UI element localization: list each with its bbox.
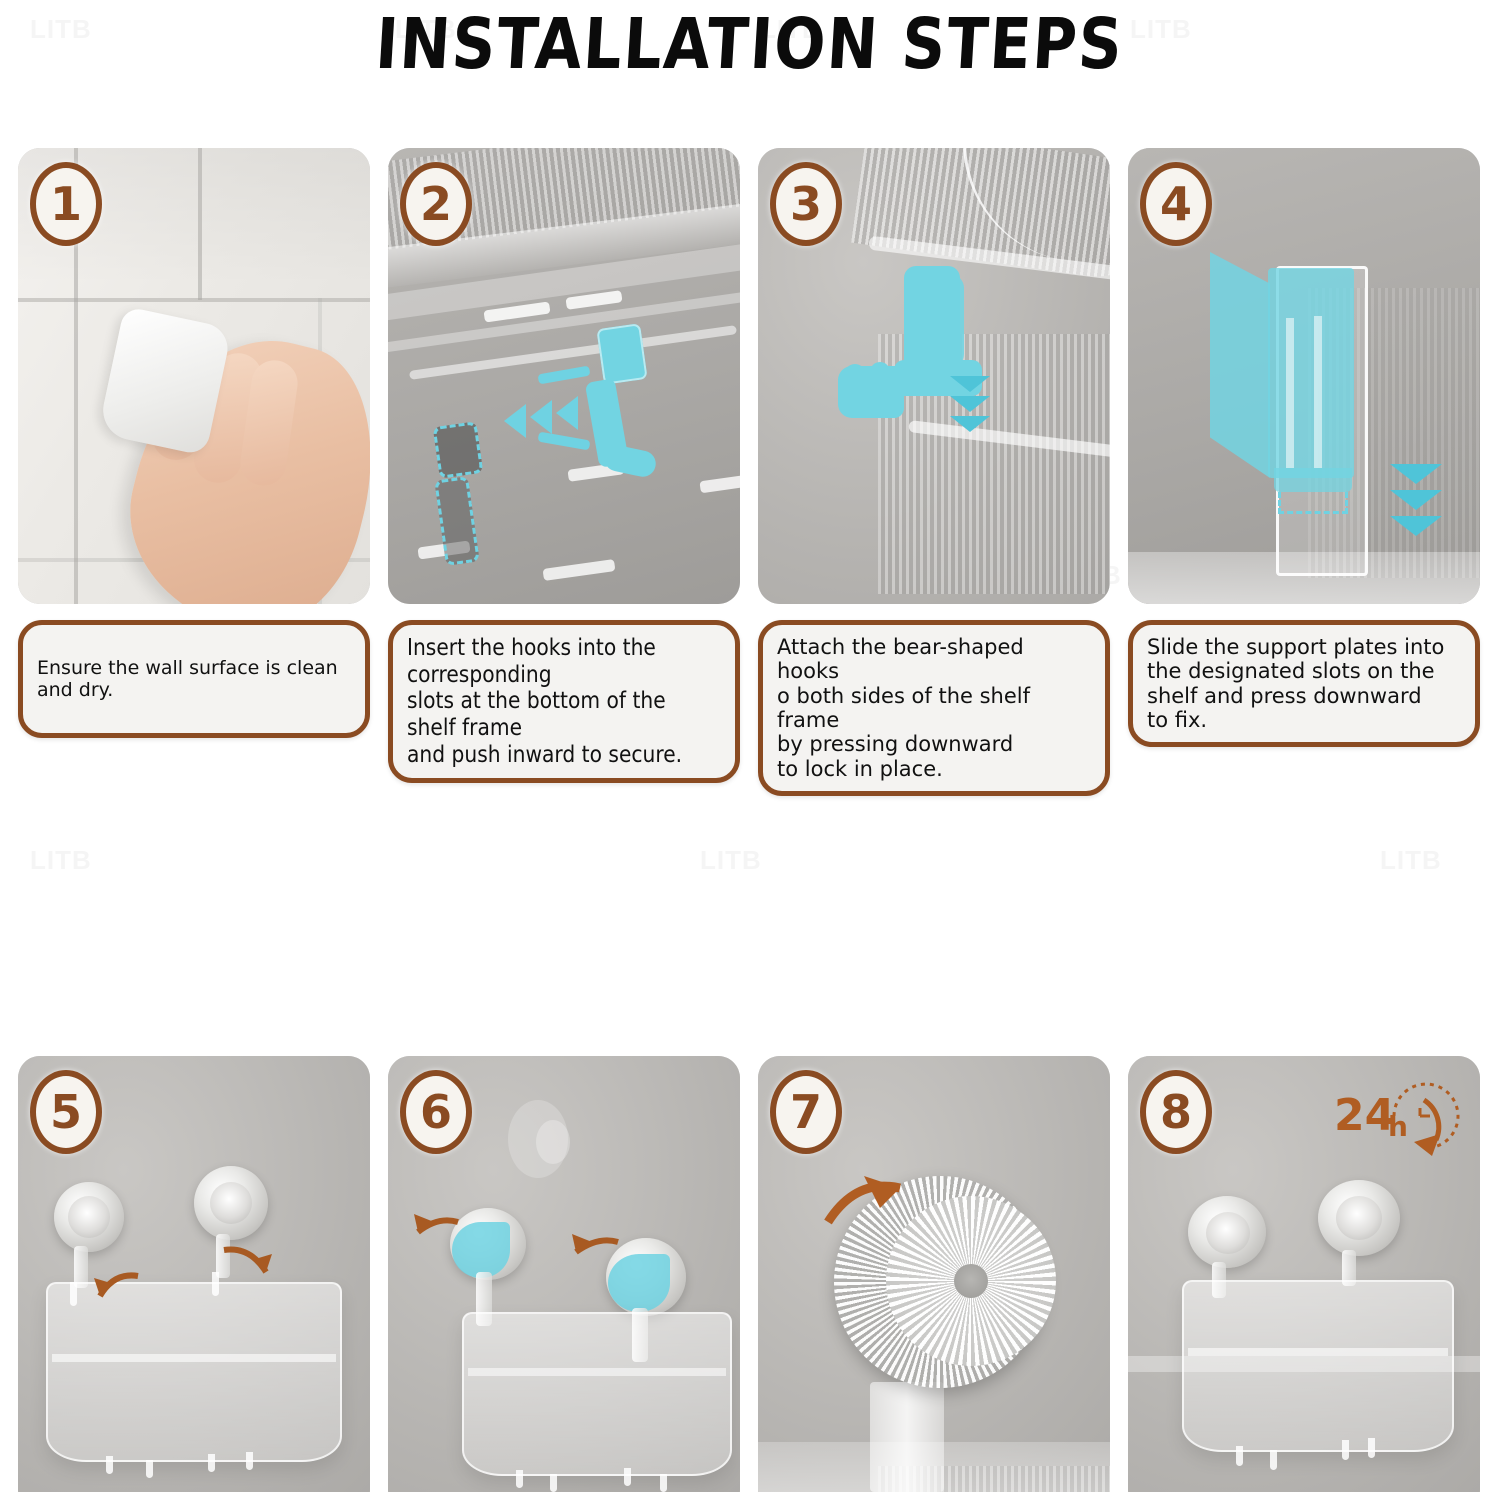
arrow-down-icon (1390, 490, 1442, 510)
step-image-5: 5 (18, 1056, 370, 1492)
arrow-down-icon (1390, 464, 1442, 484)
step-caption-text-3: Attach the bear-shaped hooks o both side… (777, 635, 1091, 781)
step-badge-1: 1 (30, 162, 102, 246)
step-item-3: 3 Attach the bear-shaped hooks o both si… (758, 148, 1110, 796)
step-image-6: 6 (388, 1056, 740, 1492)
step-badge-7: 7 (770, 1070, 842, 1154)
step-item-1: 1 Ensure the wall surface is clean and d… (18, 148, 370, 796)
step-badge-2: 2 (400, 162, 472, 246)
step-caption-text-4: Slide the support plates into the design… (1147, 635, 1461, 732)
step-item-4: 4 Slide the support plates into the desi… (1128, 148, 1480, 796)
arrow-left-icon (530, 400, 552, 434)
steps-grid: 1 Ensure the wall surface is clean and d… (18, 148, 1482, 1492)
step-caption-text-2: Insert the hooks into the corresponding … (407, 635, 683, 768)
svg-text:24: 24 (1334, 1090, 1395, 1141)
page-title-text: INSTALLATION STEPS (374, 2, 1127, 86)
step-number-2: 2 (420, 181, 452, 227)
cyan-hook-highlight (596, 323, 647, 385)
step-number-4: 4 (1160, 181, 1192, 227)
installation-steps-infographic: LITB LITB LITB LITB LITB LITB LITB LITB … (0, 0, 1500, 1492)
arrow-left-icon (504, 404, 526, 438)
svg-text:h: h (1388, 1110, 1408, 1143)
step-image-3: 3 (758, 148, 1110, 604)
step-caption-text-1: Ensure the wall surface is clean and dry… (37, 657, 351, 701)
step-item-7: 7 Firmly press the suction cups against … (758, 1056, 1110, 1492)
step-number-3: 3 (790, 181, 822, 227)
step-badge-8: 8 (1140, 1070, 1212, 1154)
arrow-left-icon (556, 396, 578, 430)
step-number-6: 6 (420, 1089, 452, 1135)
step-number-8: 8 (1160, 1089, 1192, 1135)
step-item-5: 5 Clip the main shelf frame onto the bra… (18, 1056, 370, 1492)
arrow-down-icon (950, 376, 990, 392)
24-hour-clock-icon: 24 h (1332, 1072, 1464, 1172)
step-badge-6: 6 (400, 1070, 472, 1154)
step-item-2: 2 Insert the hooks into the correspondin… (388, 148, 740, 796)
shelf-basket (1182, 1280, 1454, 1452)
arrow-down-icon (1390, 516, 1442, 536)
step-image-8: 24 h 8 (1128, 1056, 1480, 1492)
step-caption-box-4: Slide the support plates into the design… (1128, 620, 1480, 747)
hook-slot-outline (433, 421, 484, 479)
step-caption-box-2: Insert the hooks into the corresponding … (388, 620, 740, 783)
page-title: INSTALLATION STEPS (0, 2, 1500, 86)
step-number-1: 1 (50, 181, 82, 227)
arrow-down-icon (950, 416, 990, 432)
step-number-5: 5 (50, 1089, 82, 1135)
step-image-7: 7 (758, 1056, 1110, 1492)
step-caption-box-3: Attach the bear-shaped hooks o both side… (758, 620, 1110, 796)
arrow-down-icon (950, 396, 990, 412)
step-badge-5: 5 (30, 1070, 102, 1154)
step-image-4: 4 (1128, 148, 1480, 604)
step-item-8: 24 h 8 (1128, 1056, 1480, 1492)
step-badge-4: 4 (1140, 162, 1212, 246)
step-image-2: 2 (388, 148, 740, 604)
step-item-6: 6 Peel off the protective film from the … (388, 1056, 740, 1492)
step-number-7: 7 (790, 1089, 822, 1135)
step-image-1: 1 (18, 148, 370, 604)
plate-slot-dashed (1278, 492, 1348, 514)
step-badge-3: 3 (770, 162, 842, 246)
step-caption-box-1: Ensure the wall surface is clean and dry… (18, 620, 370, 738)
